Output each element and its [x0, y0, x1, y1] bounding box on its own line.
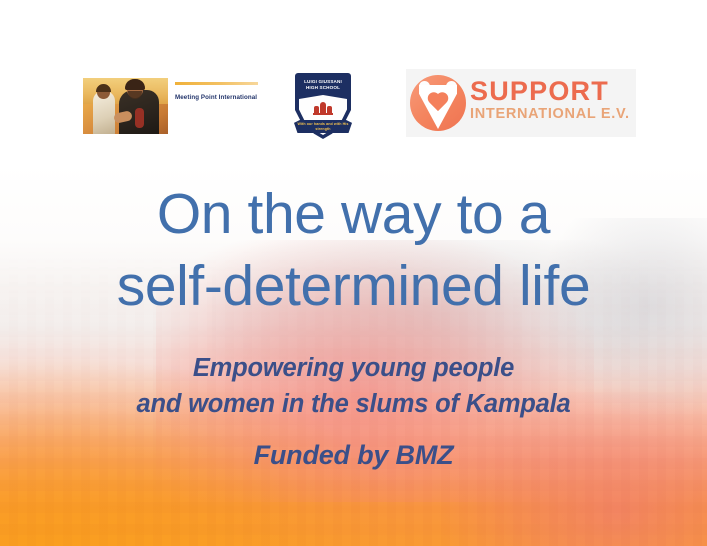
support-heart-hands-icon [410, 75, 466, 131]
slide-subtitle-line-2: and women in the slums of Kampala [0, 386, 707, 422]
logo-luigi-giussani-high-school: LUIGI GIUSSANI HIGH SCHOOL With our hand… [292, 70, 354, 144]
logo-meeting-point-international: Meeting Point International [83, 78, 258, 136]
slide-title: On the way to a self-determined life [0, 178, 707, 322]
support-wordmark-line2: INTERNATIONAL E.V. [470, 106, 632, 123]
shield-motto-text: With our hands and with His strength [294, 122, 352, 131]
slide-title-line-1: On the way to a [0, 178, 707, 250]
logo-support-international: SUPPORT INTERNATIONAL E.V. [406, 69, 636, 137]
slide-title-line-2: self-determined life [0, 250, 707, 322]
shield-motto-ribbon: With our hands and with His strength [294, 120, 352, 133]
meeting-point-wordmark: Meeting Point International [175, 82, 258, 112]
shield-name-line2: HIGH SCHOOL [299, 85, 347, 91]
slide-subtitle: Empowering young people and women in the… [0, 350, 707, 422]
slide-funder-line: Funded by BMZ [0, 437, 707, 473]
presentation-title-slide: Meeting Point International LUIGI GIUSSA… [0, 0, 707, 546]
shield-emblem-icon [312, 101, 334, 115]
support-wordmark-line1: SUPPORT [470, 77, 632, 106]
support-wordmark: SUPPORT INTERNATIONAL E.V. [470, 77, 632, 123]
meeting-point-label: Meeting Point International [175, 93, 258, 102]
meeting-point-painting-image [83, 78, 168, 134]
shield-school-name: LUIGI GIUSSANI HIGH SCHOOL [299, 79, 347, 91]
meeting-point-rule [175, 82, 258, 85]
slide-subtitle-line-1: Empowering young people [0, 350, 707, 386]
logo-row: Meeting Point International LUIGI GIUSSA… [0, 68, 707, 144]
